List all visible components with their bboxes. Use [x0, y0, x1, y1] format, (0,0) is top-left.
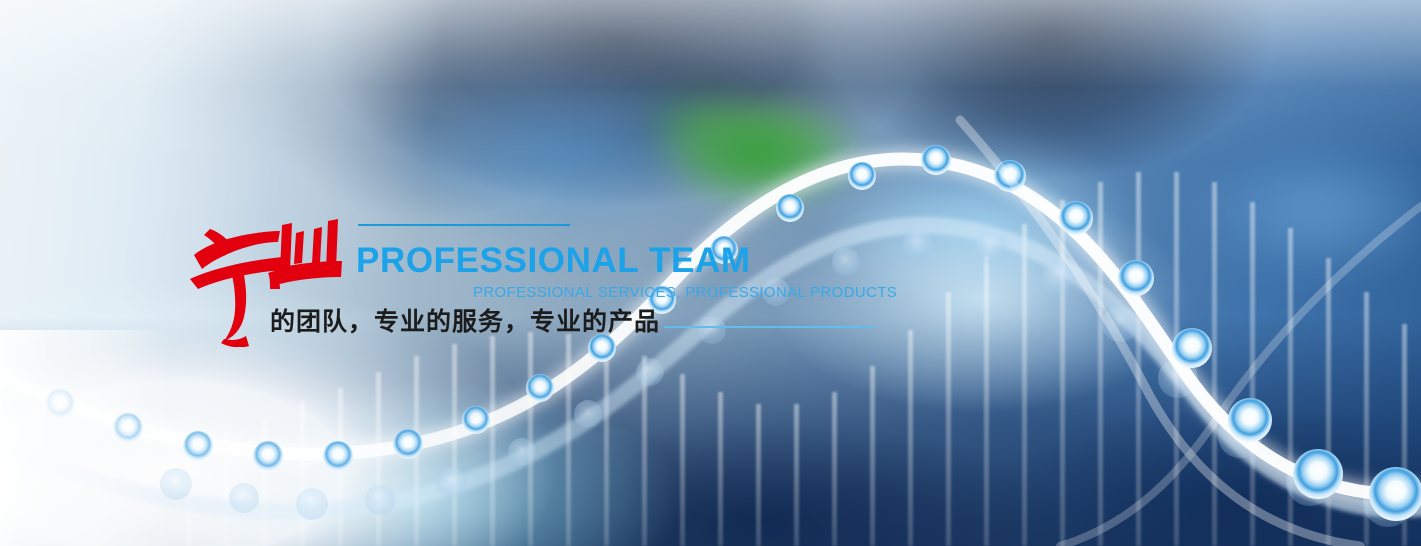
chinese-tagline: 的团队，专业的服务，专业的产品 — [270, 307, 660, 337]
page-title: PROFESSIONAL TEAM — [356, 243, 751, 278]
page-subtitle: PROFESSIONAL SERVICES, PROFESSIONAL PROD… — [473, 285, 897, 300]
banner-content: PROFESSIONAL TEAM PROFESSIONAL SERVICES,… — [0, 0, 1421, 546]
hero-banner: PROFESSIONAL TEAM PROFESSIONAL SERVICES,… — [0, 0, 1421, 546]
top-divider-rule — [358, 224, 570, 226]
bottom-divider-rule — [664, 326, 875, 328]
